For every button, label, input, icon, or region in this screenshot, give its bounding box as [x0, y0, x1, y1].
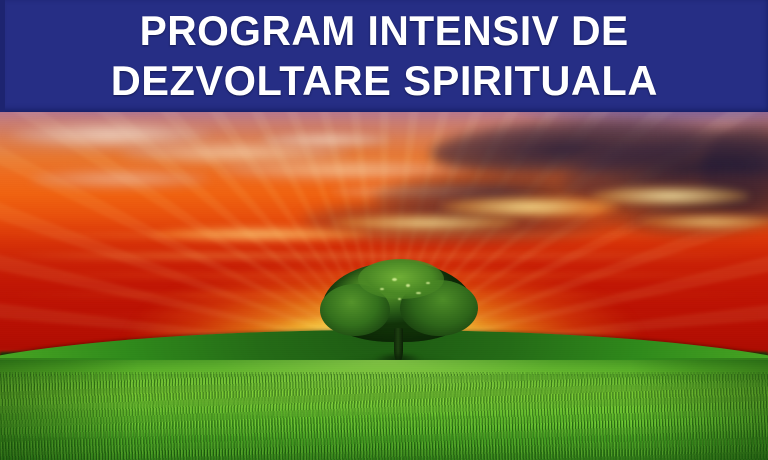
sky-streak-1 — [0, 252, 768, 260]
poster: PROGRAM INTENSIV DE DEZVOLTARE SPIRITUAL… — [0, 0, 768, 460]
tree-light-sparkle — [392, 278, 397, 281]
field-vignette — [0, 358, 768, 460]
cloud-golden-edge-4 — [640, 214, 768, 230]
lone-tree — [318, 262, 478, 362]
cloud-pale-4 — [30, 170, 210, 188]
tree-canopy-crown — [358, 259, 444, 299]
tree-light-sparkle — [398, 298, 401, 300]
sky-streak-5 — [0, 232, 768, 239]
title-banner: PROGRAM INTENSIV DE DEZVOLTARE SPIRITUAL… — [0, 0, 768, 112]
tree-light-sparkle — [426, 282, 430, 284]
title-line-2: DEZVOLTARE SPIRITUALA — [110, 56, 657, 106]
tree-light-sparkle — [406, 284, 410, 287]
tree-light-sparkle — [416, 292, 421, 294]
title-line-1: PROGRAM INTENSIV DE — [139, 6, 628, 56]
cloud-golden-edge-3 — [330, 214, 520, 232]
tree-light-sparkle — [380, 288, 384, 290]
